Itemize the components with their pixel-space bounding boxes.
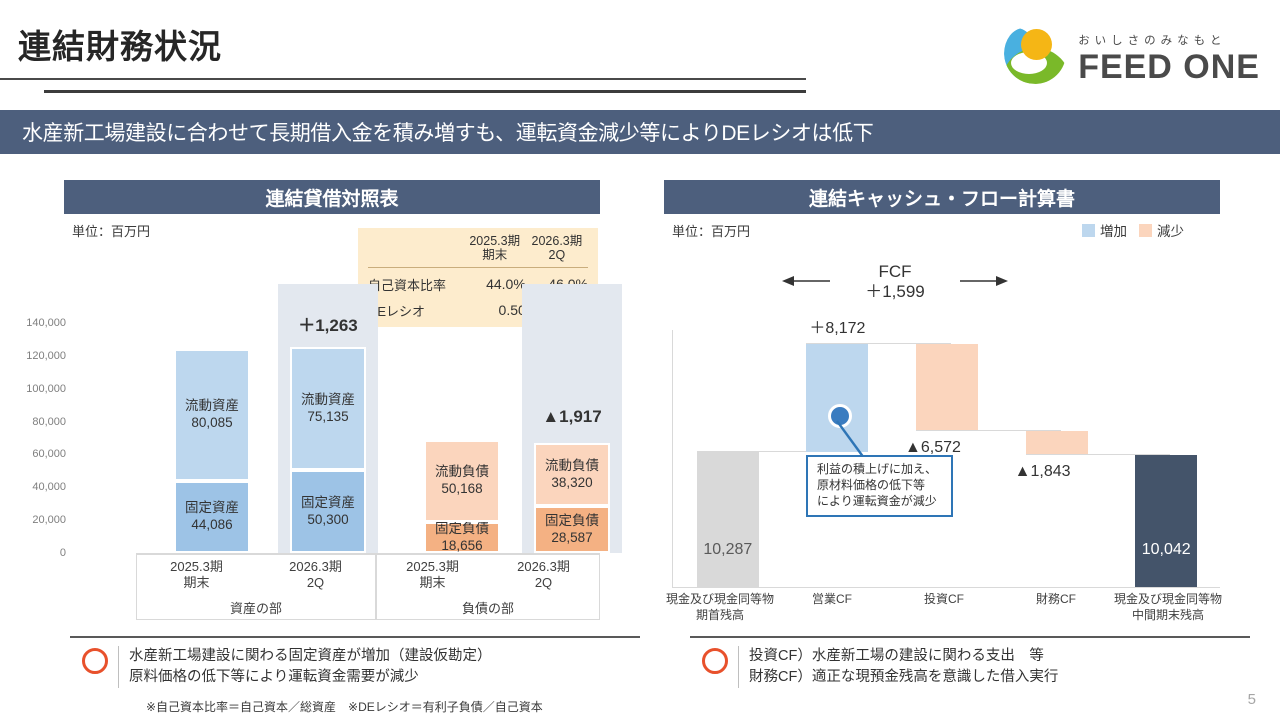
waterfall-value-label: ▲1,843 [988, 463, 1098, 481]
callout-line-2: 原材料価格の低下等 [817, 478, 951, 494]
x-axis-period-label: 2026.3期2Q [256, 555, 375, 595]
page-number: 5 [1248, 691, 1256, 708]
balance-sheet-chart: 020,00040,00060,00080,000100,000120,0001… [64, 300, 600, 620]
bullet-ring-icon [82, 648, 108, 674]
slide: 連結財務状況 おいしさのみなもと FEED ONE 水産新工場建設に合わせて長期… [0, 0, 1280, 720]
x-axis-period-label: 2026.3期2Q [488, 555, 599, 595]
waterfall-value-label: 10,287 [673, 541, 783, 559]
left-subnote: ※自己資本比率＝自己資本／総資産 ※DEレシオ＝有利子負債／自己資本 [146, 698, 543, 715]
stacked-bar-segment: 固定資産50,300 [290, 470, 366, 553]
stacked-bar-segment: 固定負債28,587 [534, 506, 610, 553]
y-axis-tick-label: 140,000 [8, 317, 66, 329]
cashflow-panel-title: 連結キャッシュ・フロー計算書 [664, 180, 1220, 214]
delta-annotation: ▲1,917 [522, 407, 622, 427]
cashflow-legend: 増加 減少 [1082, 220, 1184, 240]
left-note-line-1: 水産新工場建設に関わる固定資産が増加（建設仮勘定） [129, 646, 492, 667]
x-axis-category-label: 現金及び現金同等物中間期末残高 [1112, 592, 1224, 623]
y-axis-tick-label: 80,000 [8, 416, 66, 428]
logo-tagline: おいしさのみなもと [1078, 32, 1226, 48]
stacked-bar-segment: 固定負債18,656 [424, 522, 500, 553]
waterfall-bar [806, 344, 868, 452]
segment-value-label: 38,320 [551, 475, 592, 492]
segment-series-label: 固定資産 [185, 500, 239, 517]
right-note-block: 投資CF）水産新工場の建設に関わる支出 等 財務CF）適正な現預金残高を意識した… [702, 646, 1262, 688]
y-axis-tick-label: 120,000 [8, 350, 66, 362]
ratio-row-label: 自己資本比率 [368, 267, 464, 294]
x-axis-category-label: 営業CF [776, 592, 888, 623]
fcf-label: FCF [770, 262, 1020, 282]
segment-series-label: 流動資産 [185, 398, 239, 415]
y-axis-tick-label: 40,000 [8, 481, 66, 493]
stacked-bar-segment: 流動負債50,168 [424, 440, 500, 522]
callout-line-3: により運転資金が減少 [817, 494, 951, 510]
x-axis-period-label: 2025.3期期末 [377, 555, 488, 595]
segment-series-label: 流動負債 [435, 464, 489, 481]
legend-label-increase: 増加 [1100, 220, 1127, 240]
title-rule-upper [0, 78, 806, 80]
segment-value-label: 50,168 [441, 481, 482, 498]
segment-value-label: 44,086 [191, 517, 232, 534]
callout-line-1: 利益の積上げに加え、 [817, 462, 951, 478]
waterfall-bar [697, 452, 759, 587]
cashflow-x-axis-labels: 現金及び現金同等物期首残高営業CF投資CF財務CF現金及び現金同等物中間期末残高 [664, 592, 1224, 623]
headline-banner: 水産新工場建設に合わせて長期借入金を積み増すも、運転資金減少等によりDEレシオは… [0, 110, 1280, 154]
ratio-table-header-2026: 2026.3期 2Q [526, 234, 588, 267]
ratio-table-corner [368, 234, 464, 267]
left-note-line-2: 原料価格の低下等により運転資金需要が減少 [129, 667, 492, 688]
legend-item-decrease: 減少 [1139, 220, 1184, 240]
bullet-ring-icon [702, 648, 728, 674]
page-title: 連結財務状況 [18, 20, 222, 68]
callout-box: 利益の積上げに加え、 原材料価格の低下等 により運転資金が減少 [806, 455, 953, 517]
x-axis-category-label: 財務CF [1000, 592, 1112, 623]
stacked-bar-segment: 流動資産80,085 [174, 349, 250, 481]
x-axis-category-label: 投資CF [888, 592, 1000, 623]
segment-series-label: 固定負債 [435, 521, 489, 538]
x-axis-period-label: 2025.3期期末 [137, 555, 256, 595]
stacked-bar-segment: 流動負債38,320 [534, 443, 610, 506]
segment-series-label: 固定資産 [301, 495, 355, 512]
segment-value-label: 28,587 [551, 530, 592, 547]
footer-divider-left [70, 636, 640, 638]
fcf-annotation: FCF ＋1,599 [770, 262, 1020, 301]
delta-annotation: ＋1,263 [278, 311, 378, 336]
segment-value-label: 50,300 [307, 512, 348, 529]
waterfall-bar [1026, 431, 1088, 455]
y-axis-tick-label: 0 [8, 547, 66, 559]
waterfall-bar [1135, 455, 1197, 587]
footer-divider-right [690, 636, 1250, 638]
segment-series-label: 流動資産 [301, 392, 355, 409]
right-note-line-1: 投資CF）水産新工場の建設に関わる支出 等 [749, 646, 1058, 667]
x-axis-group-label: 資産の部 [137, 595, 375, 619]
ratio-row-value-2025: 44.0% [464, 267, 526, 294]
segment-series-label: 固定負債 [545, 513, 599, 530]
segment-series-label: 流動負債 [545, 458, 599, 475]
balance-sheet-panel-title: 連結貸借対照表 [64, 180, 600, 214]
logo-wordmark: FEED ONE [1078, 50, 1260, 84]
right-note-line-2: 財務CF）適正な現預金残高を意識した借入実行 [749, 667, 1058, 688]
note-divider [118, 646, 119, 688]
y-axis-tick-label: 100,000 [8, 383, 66, 395]
waterfall-value-label: ▲6,572 [878, 439, 988, 457]
left-note-block: 水産新工場建設に関わる固定資産が増加（建設仮勘定） 原料価格の低下等により運転資… [82, 646, 642, 688]
legend-swatch-decrease [1139, 224, 1152, 237]
fcf-value: ＋1,599 [770, 282, 1020, 302]
cashflow-unit-label: 単位：百万円 [672, 221, 750, 240]
callout-marker-dot [828, 404, 852, 428]
x-axis-label-box: 2025.3期期末2026.3期2Q負債の部 [376, 554, 600, 620]
waterfall-value-label: 10,042 [1111, 541, 1221, 559]
waterfall-value-label: ＋8,172 [783, 314, 893, 338]
y-axis-tick-label: 60,000 [8, 448, 66, 460]
title-rule-lower [44, 90, 806, 93]
segment-value-label: 80,085 [191, 415, 232, 432]
y-axis-tick-label: 20,000 [8, 514, 66, 526]
waterfall-bar [916, 344, 978, 431]
note-divider [738, 646, 739, 688]
x-axis-group-label: 負債の部 [377, 595, 599, 619]
legend-label-decrease: 減少 [1157, 220, 1184, 240]
ratio-table-header-2025: 2025.3期 期末 [464, 234, 526, 267]
balance-sheet-unit-label: 単位：百万円 [72, 221, 150, 240]
x-axis-category-label: 現金及び現金同等物期首残高 [664, 592, 776, 623]
legend-swatch-increase [1082, 224, 1095, 237]
stacked-bar-segment: 流動資産75,135 [290, 347, 366, 470]
company-logo: おいしさのみなもと FEED ONE [1004, 22, 1260, 84]
legend-item-increase: 増加 [1082, 220, 1127, 240]
feed-one-mark-icon [1004, 22, 1066, 84]
stacked-bar-segment: 固定資産44,086 [174, 481, 250, 553]
segment-value-label: 75,135 [307, 409, 348, 426]
x-axis-label-box: 2025.3期期末2026.3期2Q資産の部 [136, 554, 376, 620]
